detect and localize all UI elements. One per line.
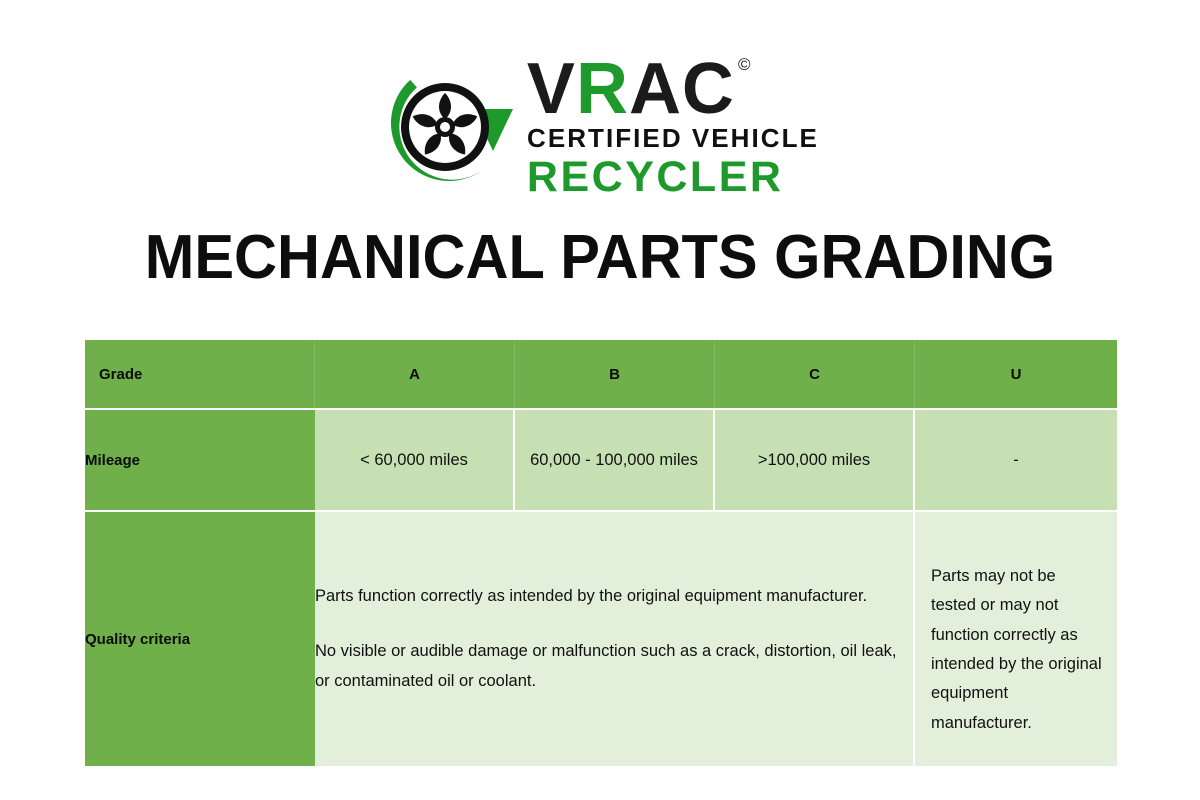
mechanical-parts-grading-table: Grade A B C U Mileage < 60,000 miles 60,… bbox=[85, 340, 1117, 766]
table-header-row: Grade A B C U bbox=[85, 340, 1117, 408]
brand-logo: VRAC© CERTIFIED VEHICLE RECYCLER bbox=[0, 52, 1200, 202]
brand-subbrand: RECYCLER bbox=[527, 156, 813, 199]
wordmark-r: R bbox=[576, 53, 629, 125]
wheel-recycle-arrow-icon bbox=[387, 59, 517, 195]
brand-tagline: CERTIFIED VEHICLE bbox=[527, 127, 819, 153]
mileage-grade-c-value: >100,000 miles bbox=[715, 408, 915, 510]
row-label-mileage: Mileage bbox=[85, 408, 315, 510]
quality-criteria-u-cell: Parts may not be tested or may not funct… bbox=[915, 510, 1117, 766]
header-grade-a: A bbox=[315, 340, 515, 408]
brand-wordmark: VRAC© bbox=[527, 55, 813, 123]
quality-criteria-paragraph-2: No visible or audible damage or malfunct… bbox=[315, 637, 913, 696]
header-grade-label: Grade bbox=[85, 340, 315, 408]
row-label-quality-criteria: Quality criteria bbox=[85, 510, 315, 766]
quality-criteria-paragraph-1: Parts function correctly as intended by … bbox=[315, 582, 913, 611]
wordmark-ac: AC bbox=[629, 53, 735, 125]
table-row-mileage: Mileage < 60,000 miles 60,000 - 100,000 … bbox=[85, 408, 1117, 510]
header-grade-c: C bbox=[715, 340, 915, 408]
mileage-grade-u-value: - bbox=[915, 408, 1117, 510]
mileage-grade-b-value: 60,000 - 100,000 miles bbox=[515, 408, 715, 510]
header-grade-u: U bbox=[915, 340, 1117, 408]
brand-wordmark-group: VRAC© CERTIFIED VEHICLE RECYCLER bbox=[527, 55, 813, 200]
brand-logo-inner: VRAC© CERTIFIED VEHICLE RECYCLER bbox=[387, 55, 813, 200]
page-title: MECHANICAL PARTS GRADING bbox=[24, 222, 1176, 293]
quality-criteria-abc-cell: Parts function correctly as intended by … bbox=[315, 510, 915, 766]
wordmark-v: V bbox=[527, 53, 576, 125]
mileage-grade-a-value: < 60,000 miles bbox=[315, 408, 515, 510]
header-grade-b: B bbox=[515, 340, 715, 408]
copyright-icon: © bbox=[738, 56, 752, 73]
table-row-quality-criteria: Quality criteria Parts function correctl… bbox=[85, 510, 1117, 766]
